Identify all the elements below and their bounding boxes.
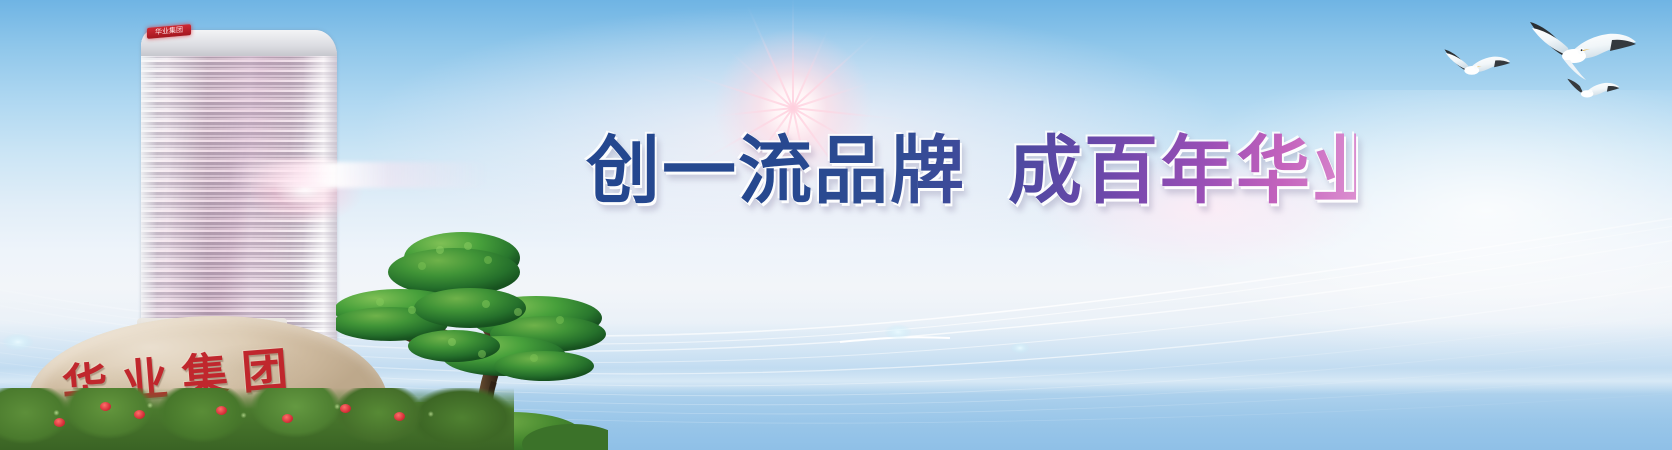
flower-icon xyxy=(54,418,65,427)
building-lens-streak xyxy=(229,162,489,188)
seagull-icon xyxy=(1444,49,1510,74)
seagull-icon xyxy=(1567,79,1619,98)
slogan-part-2: 成百年华业 xyxy=(1008,128,1388,214)
hero-banner: 华业集团 华业集团 xyxy=(0,0,1672,450)
seagull-group xyxy=(1372,0,1672,130)
flower-icon xyxy=(216,406,227,415)
slogan-part-1: 创一流品牌 xyxy=(586,128,966,214)
office-tower: 华业集团 xyxy=(133,16,349,352)
seagull-icon xyxy=(1530,22,1636,80)
flower-icon xyxy=(100,402,111,411)
flower-icon xyxy=(394,412,405,421)
banner-slogan: 创一流品牌成百年华业 xyxy=(586,126,1356,218)
hedge-row xyxy=(0,388,514,450)
flower-icon xyxy=(134,410,145,419)
flower-icon xyxy=(282,414,293,423)
flower-icon xyxy=(340,404,351,413)
